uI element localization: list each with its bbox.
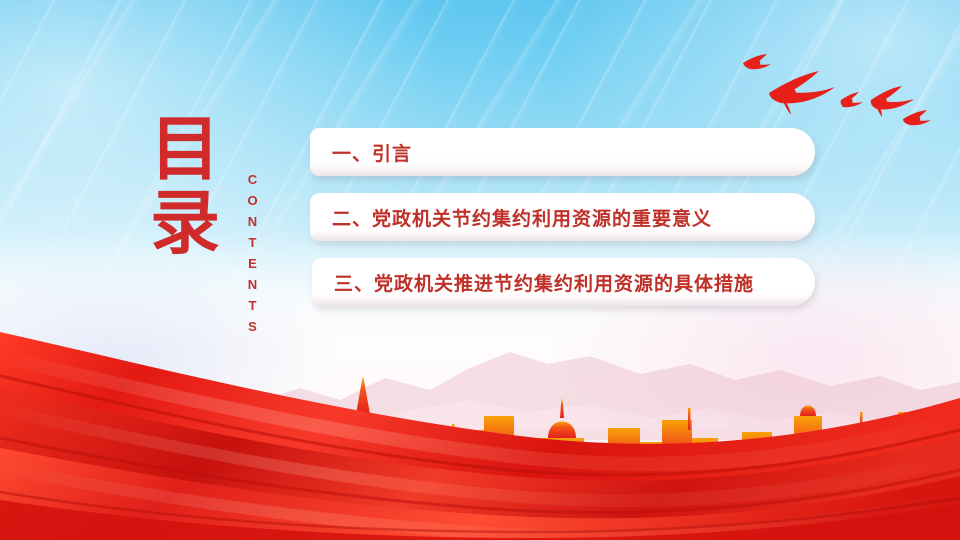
- list-item[interactable]: 一、引言: [310, 128, 815, 176]
- page-title: 目录: [150, 112, 260, 260]
- contents-title-block: 目录 CONTENTS: [150, 112, 260, 312]
- contents-list: 一、引言 二、党政机关节约集约利用资源的重要意义 三、党政机关推进节约集约利用资…: [310, 128, 820, 323]
- list-item[interactable]: 三、党政机关推进节约集约利用资源的具体措施: [312, 258, 815, 306]
- contents-item-2-label: 二、党政机关节约集约利用资源的重要意义: [310, 204, 712, 231]
- contents-item-1-label: 一、引言: [310, 139, 412, 166]
- list-item[interactable]: 二、党政机关节约集约利用资源的重要意义: [310, 193, 815, 241]
- contents-item-3-label: 三、党政机关推进节约集约利用资源的具体措施: [312, 269, 754, 296]
- contents-slide: 目录 CONTENTS 一、引言 二、党政机关节约集约利用资源的重要意义 三、党…: [0, 0, 960, 540]
- contents-subtitle: CONTENTS: [245, 172, 260, 340]
